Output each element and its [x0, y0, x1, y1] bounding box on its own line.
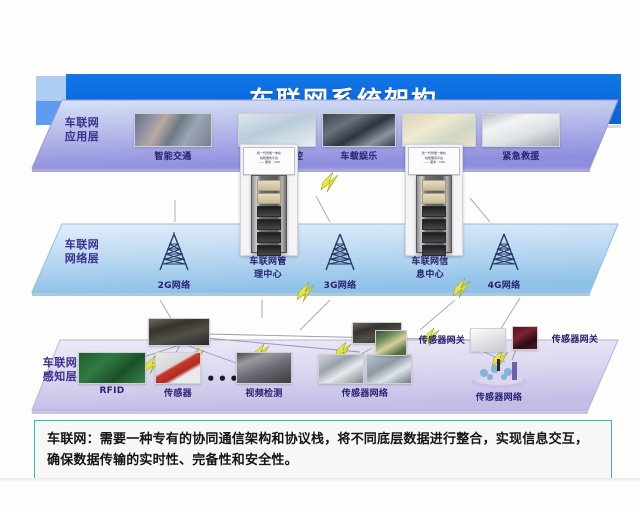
perception-node-sensor-gateway-right[interactable]: 传感器网关	[540, 332, 610, 345]
information-center-rack-card: 新一代智能一体化 机柜服务平台 —— 服务 · 100	[408, 147, 460, 175]
bottom-divider	[0, 478, 640, 482]
layer-label-network: 车联网 网络层	[52, 238, 112, 266]
rfid-thumbnail	[78, 352, 146, 384]
information-center-label-line2: 息中心	[400, 267, 460, 280]
summary-caption-text: 车联网：需要一种专有的协同通信架构和协议栈，将不同底层数据进行整合，实现信息交互…	[47, 429, 599, 471]
network-3g-label: 3G网络	[316, 278, 364, 291]
navigation-system-thumbnail	[402, 113, 476, 147]
management-center-label-line1: 车联网管	[238, 254, 298, 267]
perception-node-sensor-network-left[interactable]: 传感器网络	[318, 354, 412, 399]
perception-gateway-router[interactable]	[148, 318, 210, 346]
perception-node-navigation-device[interactable]	[375, 330, 407, 356]
management-center-rack[interactable]: 新一代智能一体化 机柜服务平台 —— 服务 · 100	[240, 144, 298, 256]
network-node-3g[interactable]: 3G网络	[316, 232, 364, 291]
remote-monitoring-thumbnail	[238, 113, 316, 147]
slide-canvas: 车联网系统架构 车联网 应用层	[0, 0, 640, 512]
in-vehicle-entertainment-thumbnail	[322, 113, 396, 147]
in-vehicle-entertainment-label: 车载娱乐	[322, 149, 396, 162]
perception-node-rfid[interactable]: RFID	[78, 352, 146, 396]
perception-node-sensor[interactable]: 传感器	[155, 352, 201, 399]
sensor-gateway-mid-label: 传感器网关	[410, 333, 474, 346]
network-node-management-center[interactable]: 车联网管 理中心	[238, 252, 298, 280]
management-center-rack-frame: 新一代智能一体化 机柜服务平台 —— 服务 · 100	[240, 144, 298, 256]
layer-label-application: 车联网 应用层	[52, 116, 112, 144]
sensor-thumbnail	[155, 352, 201, 384]
sensor-network-left-thumbs	[318, 354, 412, 384]
video-detection-thumbnail	[236, 352, 292, 384]
antenna-tower-icon	[150, 232, 198, 272]
gateway-white-thumbnail	[470, 328, 506, 352]
network-4g-label: 4G网络	[480, 278, 528, 291]
sensor-network-left-label: 传感器网络	[318, 386, 412, 399]
emergency-rescue-label: 紧急救援	[482, 149, 560, 162]
perception-node-sensor-network-right[interactable]: 传感器网络	[468, 356, 530, 403]
network-node-4g[interactable]: 4G网络	[480, 232, 528, 291]
navigation-device-thumbnail	[375, 330, 407, 356]
information-center-rack-frame: 新一代智能一体化 机柜服务平台 —— 服务 · 100	[405, 144, 463, 256]
app-node-emergency-rescue[interactable]: 紧急救援	[482, 113, 560, 162]
rfid-label: RFID	[78, 386, 146, 396]
sensor-gateway-right-label: 传感器网关	[540, 332, 610, 345]
summary-caption-box: 车联网：需要一种专有的协同通信架构和协议栈，将不同底层数据进行整合，实现信息交互…	[34, 420, 612, 480]
sensor-label: 传感器	[155, 386, 201, 399]
network-node-information-center[interactable]: 车联网信 息中心	[400, 252, 460, 280]
emergency-rescue-thumbnail	[482, 113, 560, 147]
vehicle-thumbnail-a	[318, 354, 364, 384]
gateway-router-thumbnail	[148, 318, 210, 346]
management-center-rack-card: 新一代智能一体化 机柜服务平台 —— 服务 · 100	[243, 147, 295, 175]
information-center-rack-body	[416, 175, 452, 253]
intelligent-transport-thumbnail	[134, 113, 212, 147]
network-node-2g[interactable]: 2G网络	[150, 232, 198, 291]
video-detection-label: 视频检测	[236, 386, 292, 399]
vehicle-thumbnail-b	[366, 354, 412, 384]
perception-node-sensor-gateway-mid[interactable]: 传感器网关	[410, 333, 474, 346]
information-center-rack[interactable]: 新一代智能一体化 机柜服务平台 —— 服务 · 100	[405, 144, 463, 256]
intelligent-transport-label: 智能交通	[134, 149, 212, 162]
management-center-label-line2: 理中心	[238, 267, 298, 280]
antenna-tower-icon	[316, 232, 364, 272]
perception-gateway-dark-device[interactable]	[512, 326, 538, 350]
network-2g-label: 2G网络	[150, 278, 198, 291]
management-center-rack-body	[251, 175, 287, 253]
sensor-network-right-thumbnail	[468, 356, 530, 388]
title-banner-area: 车联网系统架构	[0, 36, 640, 88]
antenna-tower-icon	[480, 232, 528, 272]
perception-gateway-white-device[interactable]	[470, 328, 506, 352]
perception-node-video-detection[interactable]: 视频检测	[236, 352, 292, 399]
app-node-intelligent-transport[interactable]: 智能交通	[134, 113, 212, 162]
app-node-in-vehicle-entertainment[interactable]: 车载娱乐	[322, 113, 396, 162]
sensor-network-right-label: 传感器网络	[468, 390, 530, 403]
information-center-label-line1: 车联网信	[400, 254, 460, 267]
gateway-dark-thumbnail	[512, 326, 538, 350]
